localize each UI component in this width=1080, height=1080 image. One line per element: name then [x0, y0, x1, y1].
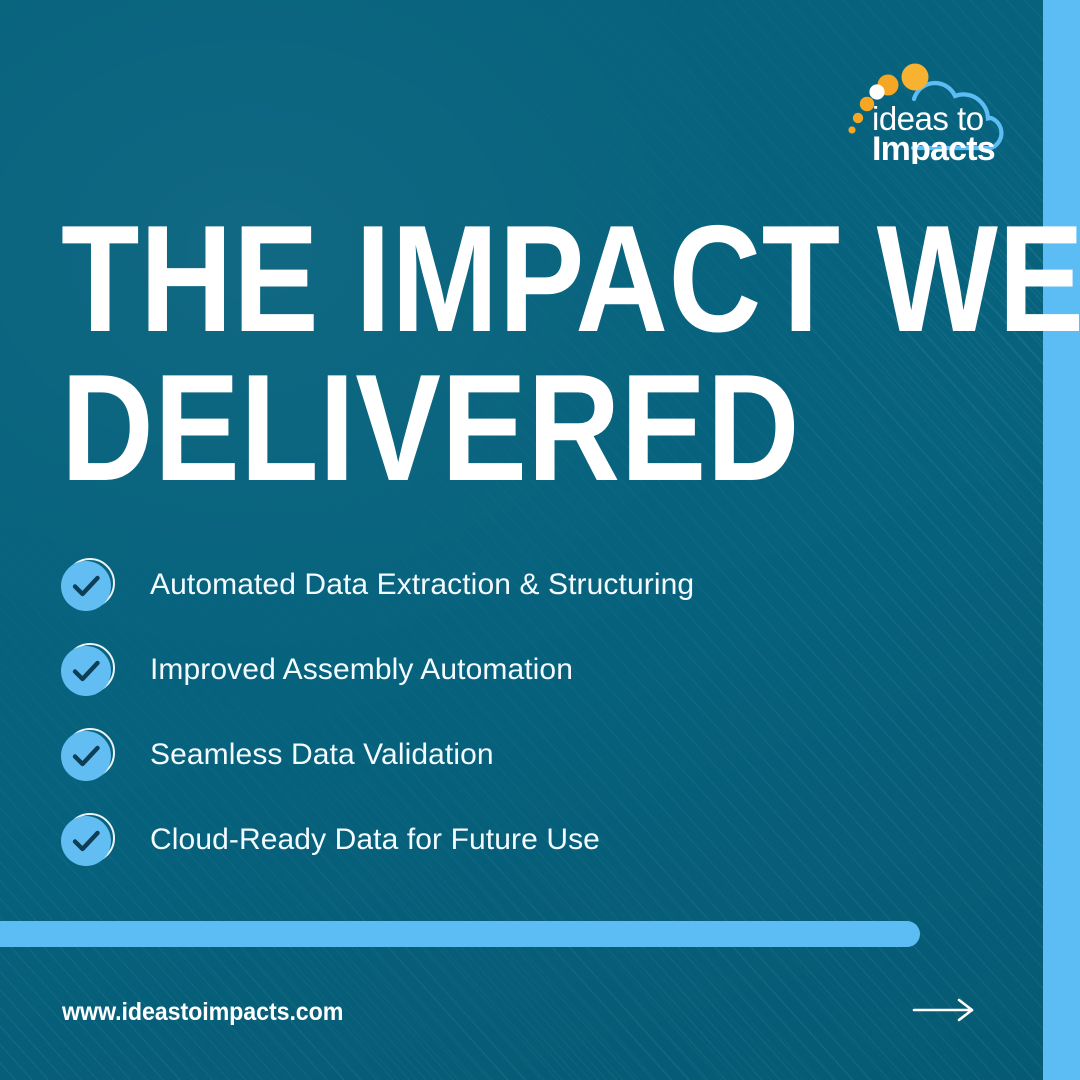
- right-edge-stripe: [1043, 0, 1080, 1080]
- impact-checklist: Automated Data Extraction & Structuring …: [61, 553, 941, 872]
- check-circle-icon: [61, 643, 115, 697]
- logo-dot-2: [853, 113, 863, 123]
- accent-divider-bar: [0, 921, 920, 947]
- headline-line-1: THE IMPACT WE: [61, 205, 788, 354]
- list-item: Seamless Data Validation: [61, 723, 941, 787]
- list-item-label: Cloud-Ready Data for Future Use: [150, 823, 600, 857]
- logo-dot-1: [848, 126, 855, 133]
- checkmark-icon: [61, 816, 111, 866]
- logo-i-dot: [869, 84, 884, 99]
- logo-line2: Impacts: [872, 130, 995, 164]
- logo-dot-5: [902, 64, 929, 91]
- ideas-to-impacts-logo: ideas to Impacts: [841, 56, 1037, 164]
- list-item: Automated Data Extraction & Structuring: [61, 553, 941, 617]
- arrow-right-icon[interactable]: [912, 997, 978, 1023]
- check-circle-icon: [61, 728, 115, 782]
- check-circle-icon: [61, 558, 115, 612]
- list-item: Improved Assembly Automation: [61, 638, 941, 702]
- list-item-label: Automated Data Extraction & Structuring: [150, 568, 694, 602]
- poster-canvas: ideas to Impacts THE IMPACT WE DELIVERED…: [0, 0, 1080, 1080]
- check-circle-icon: [61, 813, 115, 867]
- headline-line-2: DELIVERED: [61, 354, 788, 503]
- list-item: Cloud-Ready Data for Future Use: [61, 808, 941, 872]
- checkmark-icon: [61, 731, 111, 781]
- list-item-label: Improved Assembly Automation: [150, 653, 573, 687]
- list-item-label: Seamless Data Validation: [150, 738, 494, 772]
- website-url[interactable]: www.ideastoimpacts.com: [62, 998, 343, 1027]
- page-title: THE IMPACT WE DELIVERED: [61, 205, 921, 503]
- checkmark-icon: [61, 646, 111, 696]
- checkmark-icon: [61, 561, 111, 611]
